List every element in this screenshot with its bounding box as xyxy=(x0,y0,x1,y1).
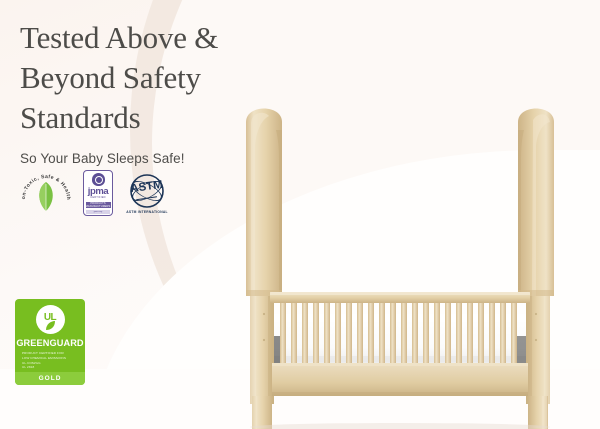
jpma-footer-text: jpma.org xyxy=(86,210,110,214)
non-toxic-safe-healthy-badge: Non-Toxic, Safe & Healthy xyxy=(18,166,74,220)
ul-mark-icon: UL xyxy=(36,305,65,334)
greenguard-fine-print: PRODUCT CERTIFIED FOR LOW CHEMICAL EMISS… xyxy=(22,351,78,370)
svg-text:——: —— xyxy=(135,191,158,206)
jpma-certified-badge: jpma CERTIFIED JUVENILE PRODUCTS MANUFAC… xyxy=(83,170,113,216)
greenguard-title: GREENGUARD xyxy=(16,338,83,348)
certification-badge-row: Non-Toxic, Safe & Healthy jpma CERTIFIED… xyxy=(18,166,172,220)
text-block: Tested Above & Beyond Safety Standards S… xyxy=(20,18,270,166)
jpma-crest-icon xyxy=(92,173,105,186)
ul-leaf-icon xyxy=(45,321,56,331)
subheadline: So Your Baby Sleeps Safe! xyxy=(20,151,270,166)
promo-banner: Tested Above & Beyond Safety Standards S… xyxy=(0,0,600,429)
jpma-band-text: JUVENILE PRODUCTS MANUFACTURERS ASSOCIAT… xyxy=(86,202,111,208)
greenguard-tier: GOLD xyxy=(15,372,85,385)
astm-label: ASTM INTERNATIONAL xyxy=(122,210,172,214)
crib-illustration xyxy=(228,100,600,429)
astm-international-badge: ASTM —— ASTM INTERNATIONAL xyxy=(122,171,172,215)
greenguard-gold-badge: UL GREENGUARD PRODUCT CERTIFIED FOR LOW … xyxy=(15,299,85,385)
page-title: Tested Above & Beyond Safety Standards xyxy=(20,18,270,138)
